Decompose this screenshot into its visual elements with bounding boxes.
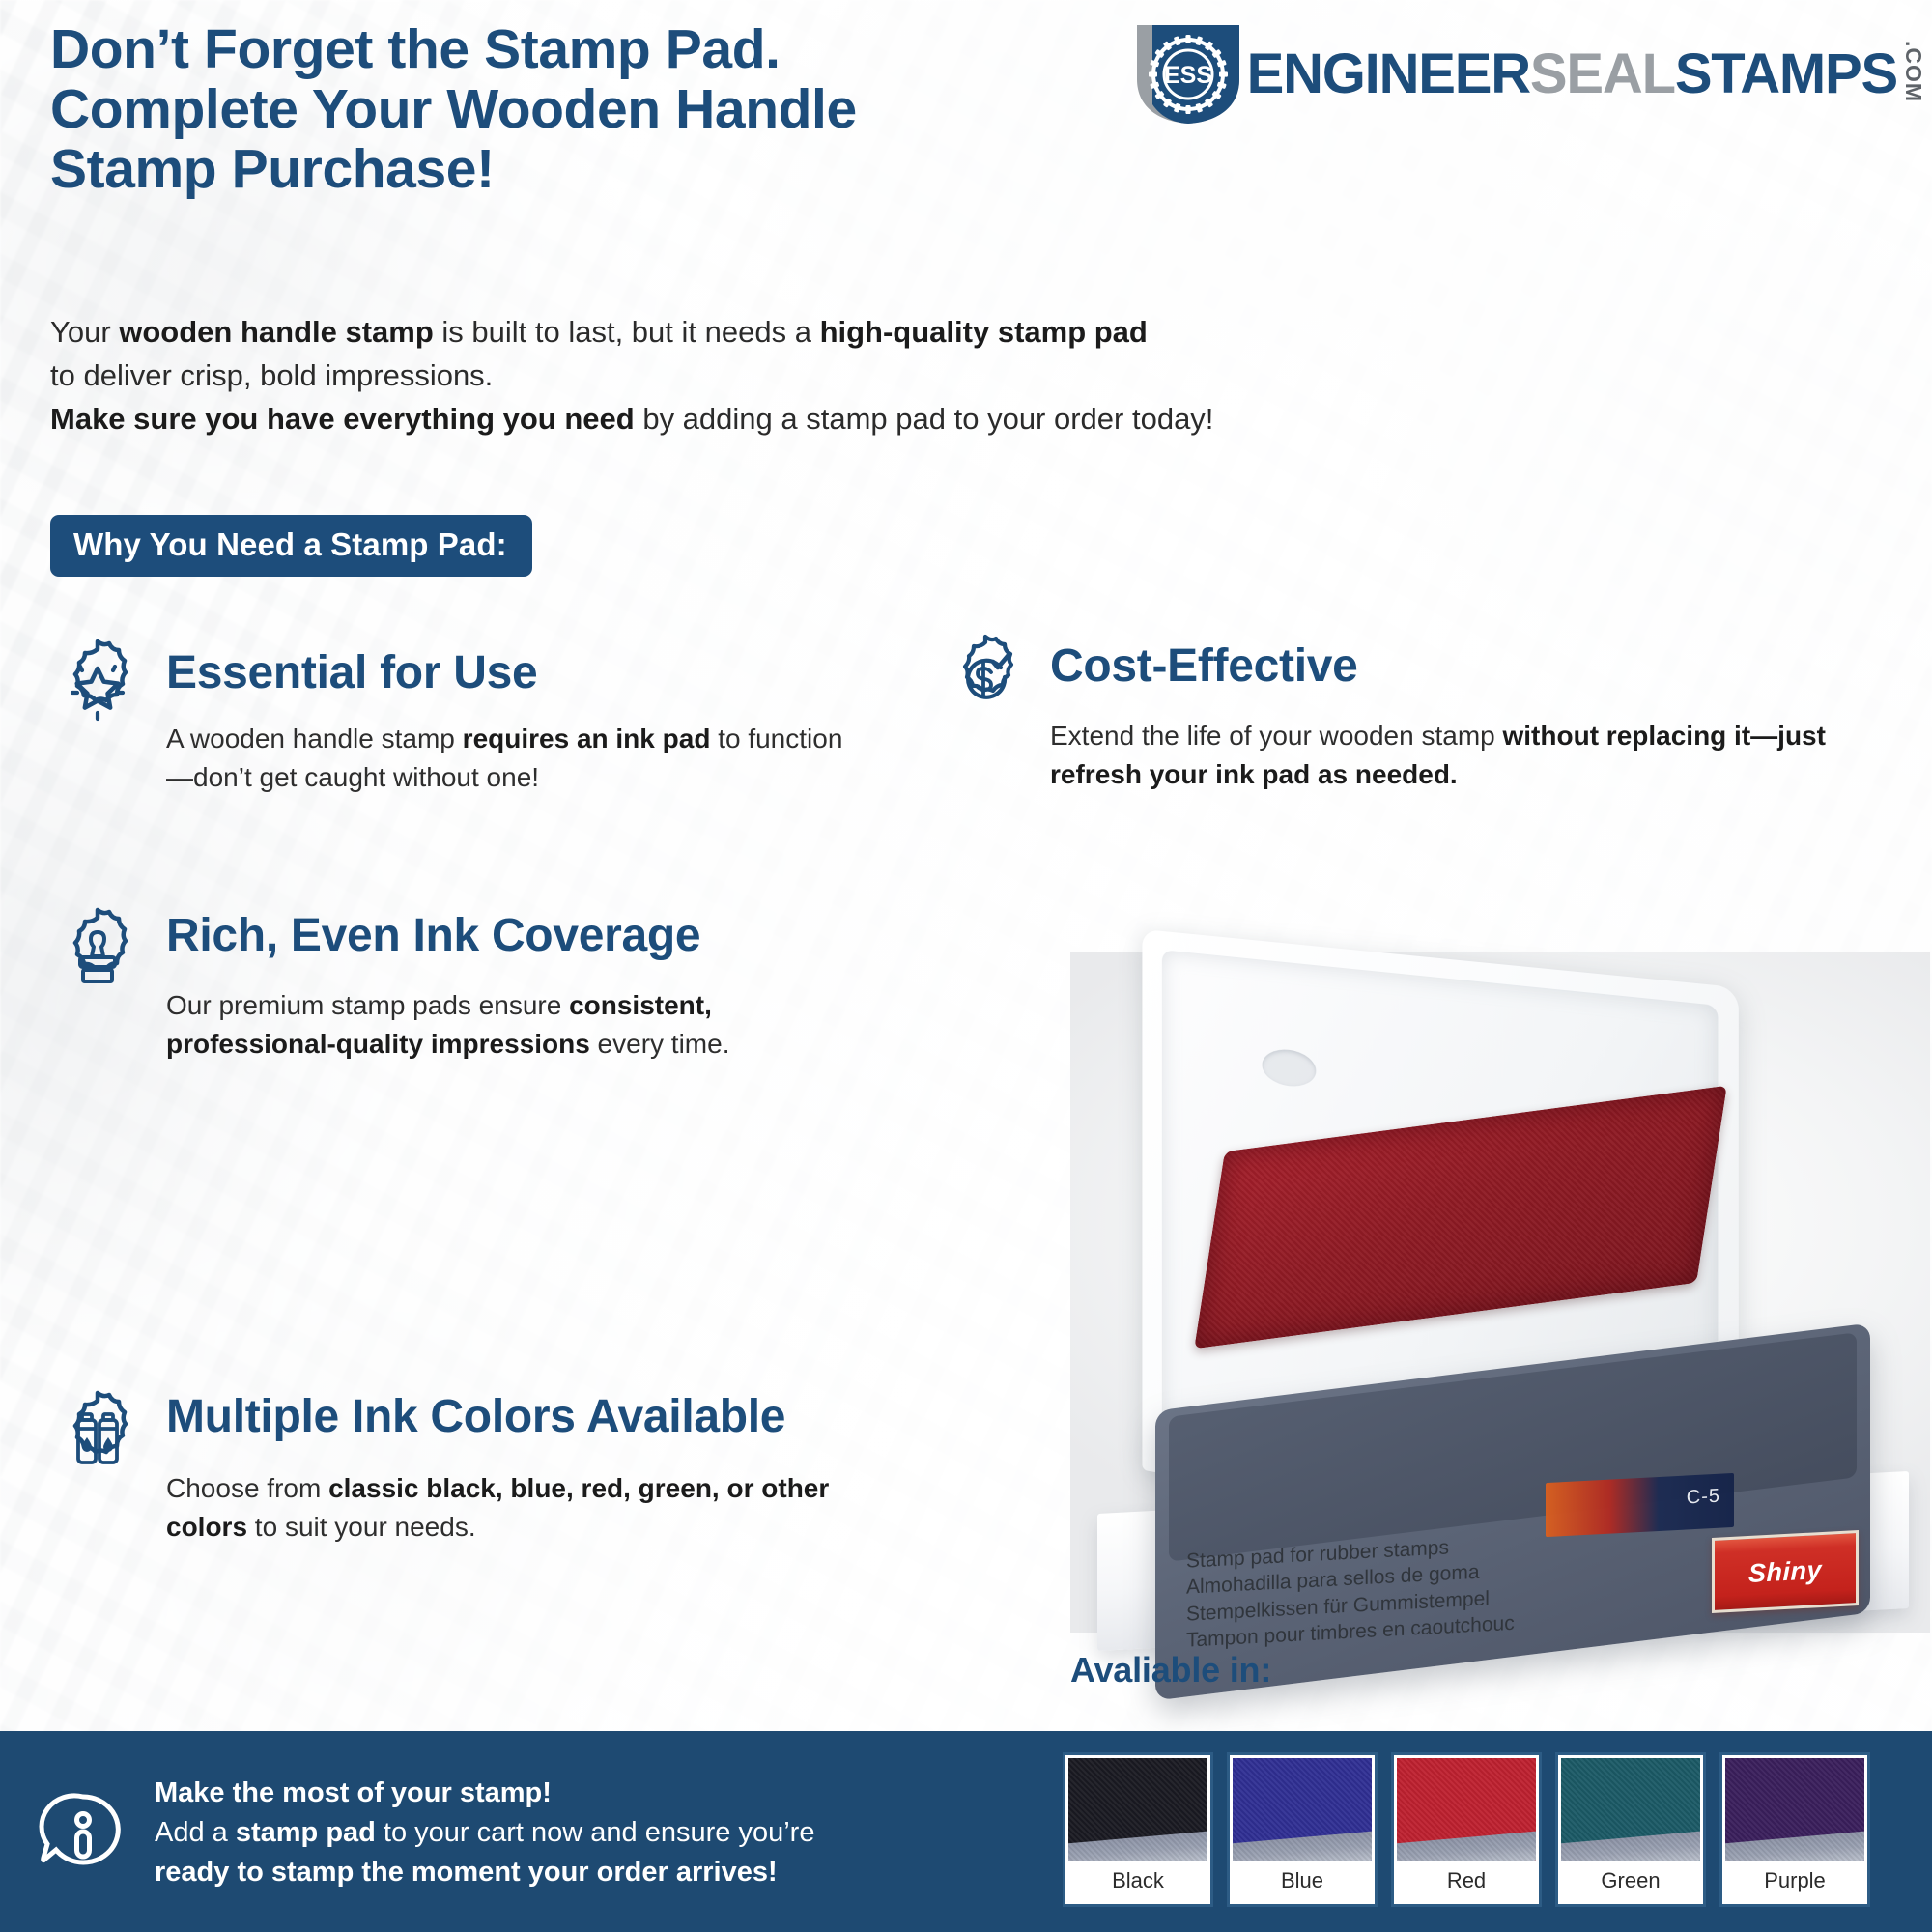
footer-line-2c: to your cart now and ensure you’re	[376, 1817, 815, 1848]
star-badge-icon	[50, 638, 145, 738]
intro-r2: to deliver crisp, bold impressions.	[50, 355, 1451, 398]
logo-word-engineer: ENGINEER	[1247, 42, 1530, 106]
swatch-label-green: Green	[1561, 1861, 1700, 1901]
logo-word-stamps: STAMPS	[1675, 42, 1897, 106]
logo-tld: .COM	[1902, 41, 1924, 102]
shiny-brand-logo: Shiny	[1712, 1530, 1859, 1613]
intro-r1c: is built to last, but it needs a	[434, 315, 820, 349]
benefit-essential-body: A wooden handle stamp requires an ink pa…	[166, 720, 847, 797]
benefit-cost-effective: Cost-Effective Extend the life of your w…	[942, 633, 1908, 793]
benefit-ink-body: Our premium stamp pads ensure consistent…	[166, 986, 804, 1064]
ink-bottles-badge-icon	[50, 1389, 145, 1490]
swatch-color-green	[1561, 1758, 1700, 1861]
swatch-label-red: Red	[1397, 1861, 1536, 1901]
swatch-purple[interactable]: Purple	[1719, 1752, 1870, 1907]
headline-line-1: Don’t Forget the Stamp Pad.	[50, 19, 1238, 79]
rubber-stamp-badge-icon	[50, 906, 145, 1007]
ess-shield-icon: ESS	[1131, 19, 1245, 128]
brand-logo[interactable]: ESS ENGINEERSEALSTAMPS .COM	[1131, 19, 1924, 128]
infographic-page: Don’t Forget the Stamp Pad. Complete You…	[0, 0, 1932, 1932]
available-in-label: Avaliable in:	[1070, 1650, 1271, 1690]
benefit-essential-for-use: Essential for Use A wooden handle stamp …	[50, 638, 852, 796]
footer-message: Make the most of your stamp! Add a stamp…	[155, 1774, 1053, 1893]
intro-r1b: wooden handle stamp	[119, 315, 434, 349]
benefit-ink-body-a: Our premium stamp pads ensure	[166, 990, 569, 1020]
page-title: Don’t Forget the Stamp Pad. Complete You…	[50, 19, 1238, 199]
intro-r1d: high-quality stamp pad	[820, 315, 1148, 349]
swatch-color-blue	[1233, 1758, 1372, 1861]
benefit-colors-body: Choose from classic black, blue, red, gr…	[166, 1469, 842, 1547]
footer-line-1: Make the most of your stamp!	[155, 1774, 1053, 1813]
benefit-multiple-ink-colors: Multiple Ink Colors Available Choose fro…	[50, 1389, 900, 1546]
logo-word-seal: SEAL	[1530, 42, 1675, 106]
swatch-black[interactable]: Black	[1063, 1752, 1213, 1907]
swatch-color-purple	[1725, 1758, 1864, 1861]
benefit-colors-body-c: to suit your needs.	[247, 1512, 476, 1542]
benefit-cost-title: Cost-Effective	[1050, 633, 1908, 692]
benefit-ink-title: Rich, Even Ink Coverage	[166, 906, 852, 961]
intro-r1a: Your	[50, 315, 119, 349]
footer-banner: Make the most of your stamp! Add a stamp…	[0, 1731, 1932, 1932]
swatch-blue[interactable]: Blue	[1227, 1752, 1378, 1907]
swatch-red[interactable]: Red	[1391, 1752, 1542, 1907]
benefit-cost-body: Extend the life of your wooden stamp wit…	[1050, 717, 1900, 794]
info-bubble-icon	[37, 1787, 129, 1880]
intro-r3b: by adding a stamp pad to your order toda…	[635, 402, 1214, 436]
swatch-label-blue: Blue	[1233, 1861, 1372, 1901]
benefit-cost-body-a: Extend the life of your wooden stamp	[1050, 721, 1503, 751]
footer-line-2a: Add a	[155, 1817, 236, 1848]
lid-dimple	[1263, 1047, 1317, 1090]
benefit-essential-body-a: A wooden handle stamp	[166, 724, 463, 753]
benefit-ink-body-c: every time.	[590, 1029, 730, 1059]
section-badge: Why You Need a Stamp Pad:	[50, 515, 532, 577]
swatch-label-black: Black	[1068, 1861, 1207, 1901]
intro-r3a: Make sure you have everything you need	[50, 402, 635, 436]
benefit-essential-body-b: requires an ink pad	[463, 724, 711, 753]
benefit-rich-even-ink-coverage: Rich, Even Ink Coverage Our premium stam…	[50, 906, 852, 1063]
logo-wordmark: ENGINEERSEALSTAMPS .COM	[1247, 41, 1924, 105]
benefit-essential-title: Essential for Use	[166, 638, 852, 698]
dollar-check-badge-icon	[942, 633, 1029, 725]
footer-line-2b: stamp pad	[236, 1817, 376, 1848]
swatch-color-red	[1397, 1758, 1536, 1861]
headline-line-3: Stamp Purchase!	[50, 139, 1238, 199]
swatch-label-purple: Purple	[1725, 1861, 1864, 1901]
swatch-green[interactable]: Green	[1555, 1752, 1706, 1907]
headline-line-2: Complete Your Wooden Handle	[50, 79, 1238, 139]
ess-monogram: ESS	[1164, 62, 1212, 89]
footer-line-3: ready to stamp the moment your order arr…	[155, 1853, 1053, 1892]
intro-paragraph: Your wooden handle stamp is built to las…	[50, 311, 1451, 441]
swatch-color-black	[1068, 1758, 1207, 1861]
benefit-colors-title: Multiple Ink Colors Available	[166, 1389, 900, 1442]
color-swatch-list: Black Blue Red Green Purple	[1063, 1752, 1870, 1907]
benefit-colors-body-a: Choose from	[166, 1473, 328, 1503]
